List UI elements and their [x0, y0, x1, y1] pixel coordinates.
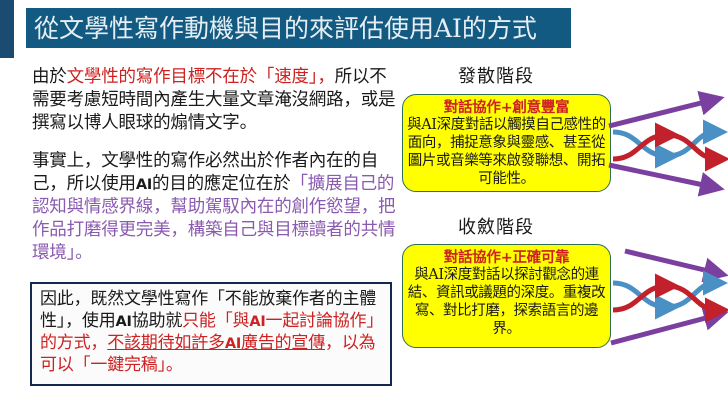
- divergent-box-heading: 對話協作+創意豐富: [407, 99, 606, 117]
- box-underline-run-b: 廣告的宣傳: [241, 333, 325, 353]
- p1-red-run: 文學性的寫作目標不在於「速度」，: [67, 67, 335, 87]
- box-ai-token-3: AI: [225, 336, 241, 352]
- stage-label-convergent: 收斂階段: [458, 213, 534, 239]
- paragraph-one: 由於文學性的寫作目標不在於「速度」，所以不需要考慮短時間內產生大量文章淹沒網路，…: [32, 66, 400, 135]
- slide-canvas: 從文學性寫作動機與目的來評估使用AI的方式 由於文學性的寫作目標不在於「速度」，…: [0, 0, 728, 410]
- divergent-heading-right: 創意豐富: [512, 99, 569, 116]
- box-ai-token-2: AI: [249, 314, 265, 330]
- stage-label-divergent: 發散階段: [458, 62, 534, 88]
- converging-arrows-diagram: [605, 243, 728, 353]
- paragraph-two: 事實上，文學性的寫作必然出於作者內在的自己，所以使用AI的目的應定位在於「擴展自…: [32, 150, 400, 265]
- convergent-stage-box: 對話協作+正確可靠 與AI深度對話以探討觀念的連結、資訊或議題的深度。重複改寫、…: [402, 244, 611, 348]
- convergent-box-heading: 對話協作+正確可靠: [407, 249, 606, 267]
- conclusion-box: 因此，既然文學性寫作「不能放棄作者的主體性」，使用AI協助就只能「與AI一起討論…: [30, 282, 392, 386]
- divergent-heading-plus: +: [501, 100, 513, 116]
- page-title: 從文學性寫作動機與目的來評估使用AI的方式: [34, 16, 537, 41]
- convergent-heading-left: 對話協作: [444, 249, 501, 266]
- box-black-run-b: 協助就: [132, 311, 182, 331]
- boxed-paragraph: 因此，既然文學性寫作「不能放棄作者的主體性」，使用AI協助就只能「與AI一起討論…: [40, 288, 384, 376]
- p2-black-run-b: 的目的應定位在於: [152, 174, 290, 194]
- slide-title-box: 從文學性寫作動機與目的來評估使用AI的方式: [26, 8, 571, 48]
- divergent-heading-left: 對話協作: [444, 99, 501, 116]
- box-ai-token-1: AI: [116, 314, 132, 330]
- left-accent-bar: [0, 0, 14, 58]
- divergent-box-body: 與AI深度對話以觸摸自己感性的面向，捕捉意象與靈感、甚至從圖片或音樂等來啟發聯想…: [407, 117, 606, 189]
- right-content-column: 發散階段 對話協作+創意豐富 與AI深度對話以觸摸自己感性的面向，捕捉意象與靈感…: [398, 58, 728, 406]
- diverging-arrows-diagram: [605, 88, 728, 198]
- left-content-column: 由於文學性的寫作目標不在於「速度」，所以不需要考慮短時間內產生大量文章淹沒網路，…: [22, 58, 397, 403]
- p1-lead-black: 由於: [32, 67, 67, 87]
- box-red-run-a: 只能「與: [182, 311, 249, 331]
- diverging-arrows-svg: [605, 88, 728, 198]
- p2-ai-token: AI: [136, 177, 152, 193]
- box-underline-run-a: 不該期待如許多: [107, 333, 225, 353]
- convergent-heading-plus: +: [501, 250, 513, 266]
- convergent-box-body: 與AI深度對話以探討觀念的連結、資訊或議題的深度。重複改寫、對比打磨，探索語言的…: [407, 267, 606, 339]
- divergent-stage-box: 對話協作+創意豐富 與AI深度對話以觸摸自己感性的面向，捕捉意象與靈感、甚至從圖…: [402, 94, 611, 192]
- converging-arrows-svg: [605, 243, 728, 353]
- convergent-heading-right: 正確可靠: [512, 249, 569, 266]
